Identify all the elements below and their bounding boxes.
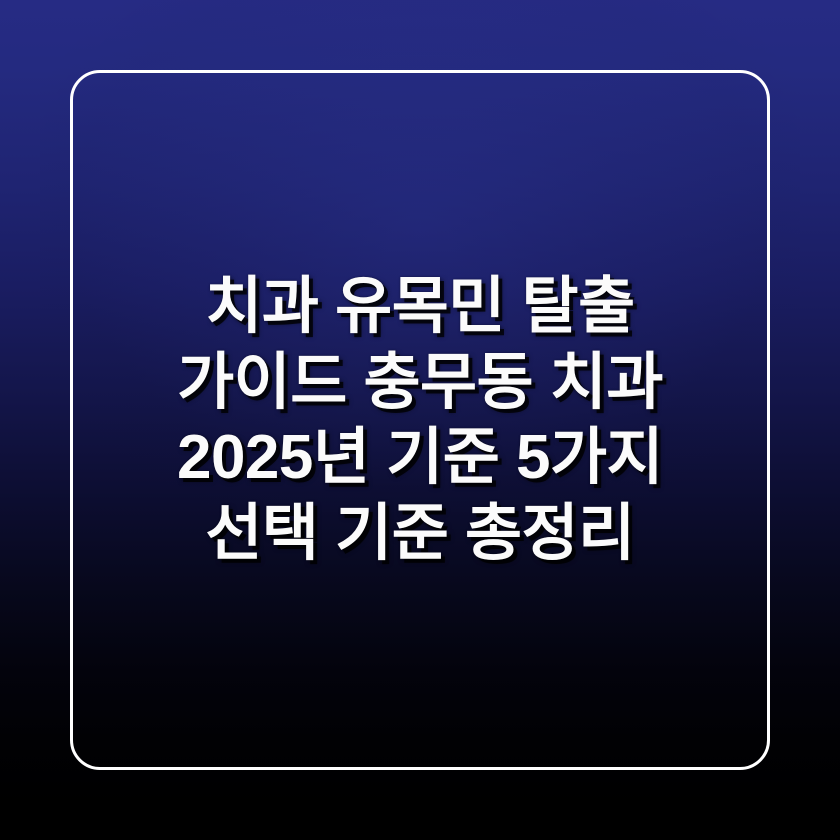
thumbnail-card: 치과 유목민 탈출 가이드 충무동 치과 2025년 기준 5가지 선택 기준 … — [0, 0, 840, 840]
headline-text: 치과 유목민 탈출 가이드 충무동 치과 2025년 기준 5가지 선택 기준 … — [0, 269, 840, 572]
